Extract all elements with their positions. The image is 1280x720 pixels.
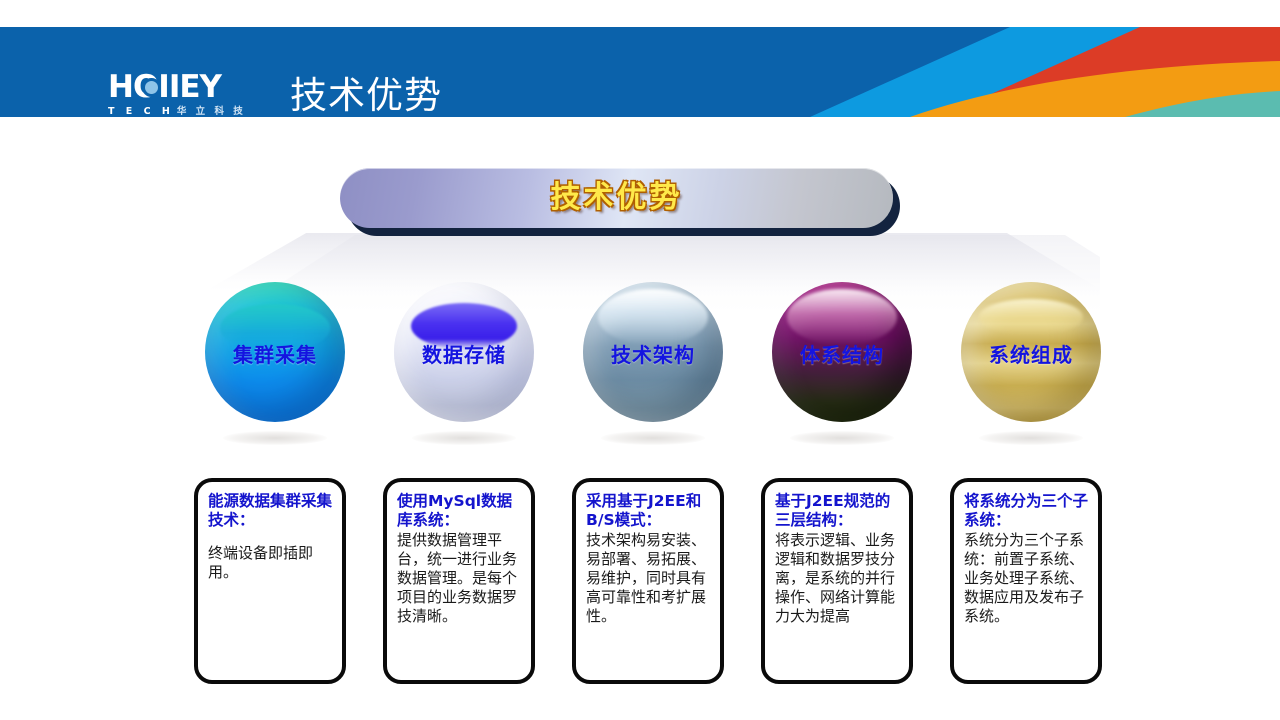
holley-logo: HOIIEY T E C H 华 立 科 技: [108, 71, 260, 117]
info-box-3: 采用基于J2EE和B/S模式： 技术架构易安装、易部署、易拓展、易维护，同时具有…: [572, 478, 724, 684]
sphere-shadow-5: [979, 431, 1083, 445]
sphere-shadow-1: [223, 431, 327, 445]
sphere-zone-5: 系统组成: [936, 280, 1126, 455]
title-banner: 技术优势: [340, 168, 900, 236]
page-title: 技术优势: [290, 75, 442, 117]
column-5: 系统组成: [936, 280, 1126, 455]
column-2: 数据存储: [369, 280, 559, 455]
sphere-zone-2: 数据存储: [369, 280, 559, 455]
sphere-shadow-4: [790, 431, 894, 445]
sphere-cluster-collection[interactable]: 集群采集: [205, 282, 345, 422]
sphere-label-4: 体系结构: [800, 343, 884, 367]
sphere-tech-architecture[interactable]: 技术架构: [583, 282, 723, 422]
info-box-3-heading: 采用基于J2EE和B/S模式：: [586, 492, 712, 530]
info-box-2-body: 提供数据管理平台，统一进行业务数据管理。是每个项目的业务数据罗技清晰。: [397, 531, 523, 626]
logo-tech-text: T E C H: [108, 106, 174, 117]
column-3: 技术架构: [558, 280, 748, 455]
logo-wordmark: HOIIEY: [108, 71, 260, 103]
logo-ring-icon: [142, 78, 161, 97]
info-box-1-heading: 能源数据集群采集技术：: [208, 492, 334, 530]
header-swoosh-graphic: [580, 27, 1280, 117]
title-banner-pill: 技术优势: [340, 168, 893, 228]
sphere-label-5: 系统组成: [989, 343, 1073, 367]
info-box-1-body: 终端设备即插即用。: [208, 544, 334, 582]
info-box-2-heading: 使用MySql数据库系统：: [397, 492, 523, 530]
info-box-2: 使用MySql数据库系统： 提供数据管理平台，统一进行业务数据管理。是每个项目的…: [383, 478, 535, 684]
info-box-5-body: 系统分为三个子系统：前置子系统、业务处理子系统、数据应用及发布子系统。: [964, 531, 1090, 626]
sphere-system-structure[interactable]: 体系结构: [772, 282, 912, 422]
logo-chinese-text: 华 立 科 技: [177, 106, 246, 117]
sphere-zone-4: 体系结构: [747, 280, 937, 455]
sphere-system-composition[interactable]: 系统组成: [961, 282, 1101, 422]
column-4: 体系结构: [747, 280, 937, 455]
logo-wordmark-text: HOIIEY: [108, 69, 221, 105]
info-box-4-heading: 基于J2EE规范的三层结构：: [775, 492, 901, 530]
sphere-label-3: 技术架构: [611, 343, 695, 367]
sphere-shadow-3: [601, 431, 705, 445]
info-box-5-heading: 将系统分为三个子系统：: [964, 492, 1090, 530]
header-bar: HOIIEY T E C H 华 立 科 技 技术优势: [0, 27, 1280, 117]
column-1: 集群采集: [180, 280, 370, 455]
info-box-3-body: 技术架构易安装、易部署、易拓展、易维护，同时具有高可靠性和考扩展性。: [586, 531, 712, 626]
sphere-zone-3: 技术架构: [558, 280, 748, 455]
info-box-4: 基于J2EE规范的三层结构： 将表示逻辑、业务逻辑和数据罗技分离，是系统的并行操…: [761, 478, 913, 684]
logo-subtitle: T E C H 华 立 科 技: [108, 105, 260, 117]
info-box-4-body: 将表示逻辑、业务逻辑和数据罗技分离，是系统的并行操作、网络计算能力大为提高: [775, 531, 901, 626]
sphere-data-storage[interactable]: 数据存储: [394, 282, 534, 422]
sphere-label-2: 数据存储: [422, 343, 506, 367]
title-banner-text: 技术优势: [551, 181, 683, 215]
slide-canvas: HOIIEY T E C H 华 立 科 技 技术优势 技术优势: [0, 0, 1280, 720]
sphere-label-1: 集群采集: [233, 343, 317, 367]
sphere-shadow-2: [412, 431, 516, 445]
sphere-zone-1: 集群采集: [180, 280, 370, 455]
info-box-5: 将系统分为三个子系统： 系统分为三个子系统：前置子系统、业务处理子系统、数据应用…: [950, 478, 1102, 684]
info-box-1: 能源数据集群采集技术： 终端设备即插即用。: [194, 478, 346, 684]
